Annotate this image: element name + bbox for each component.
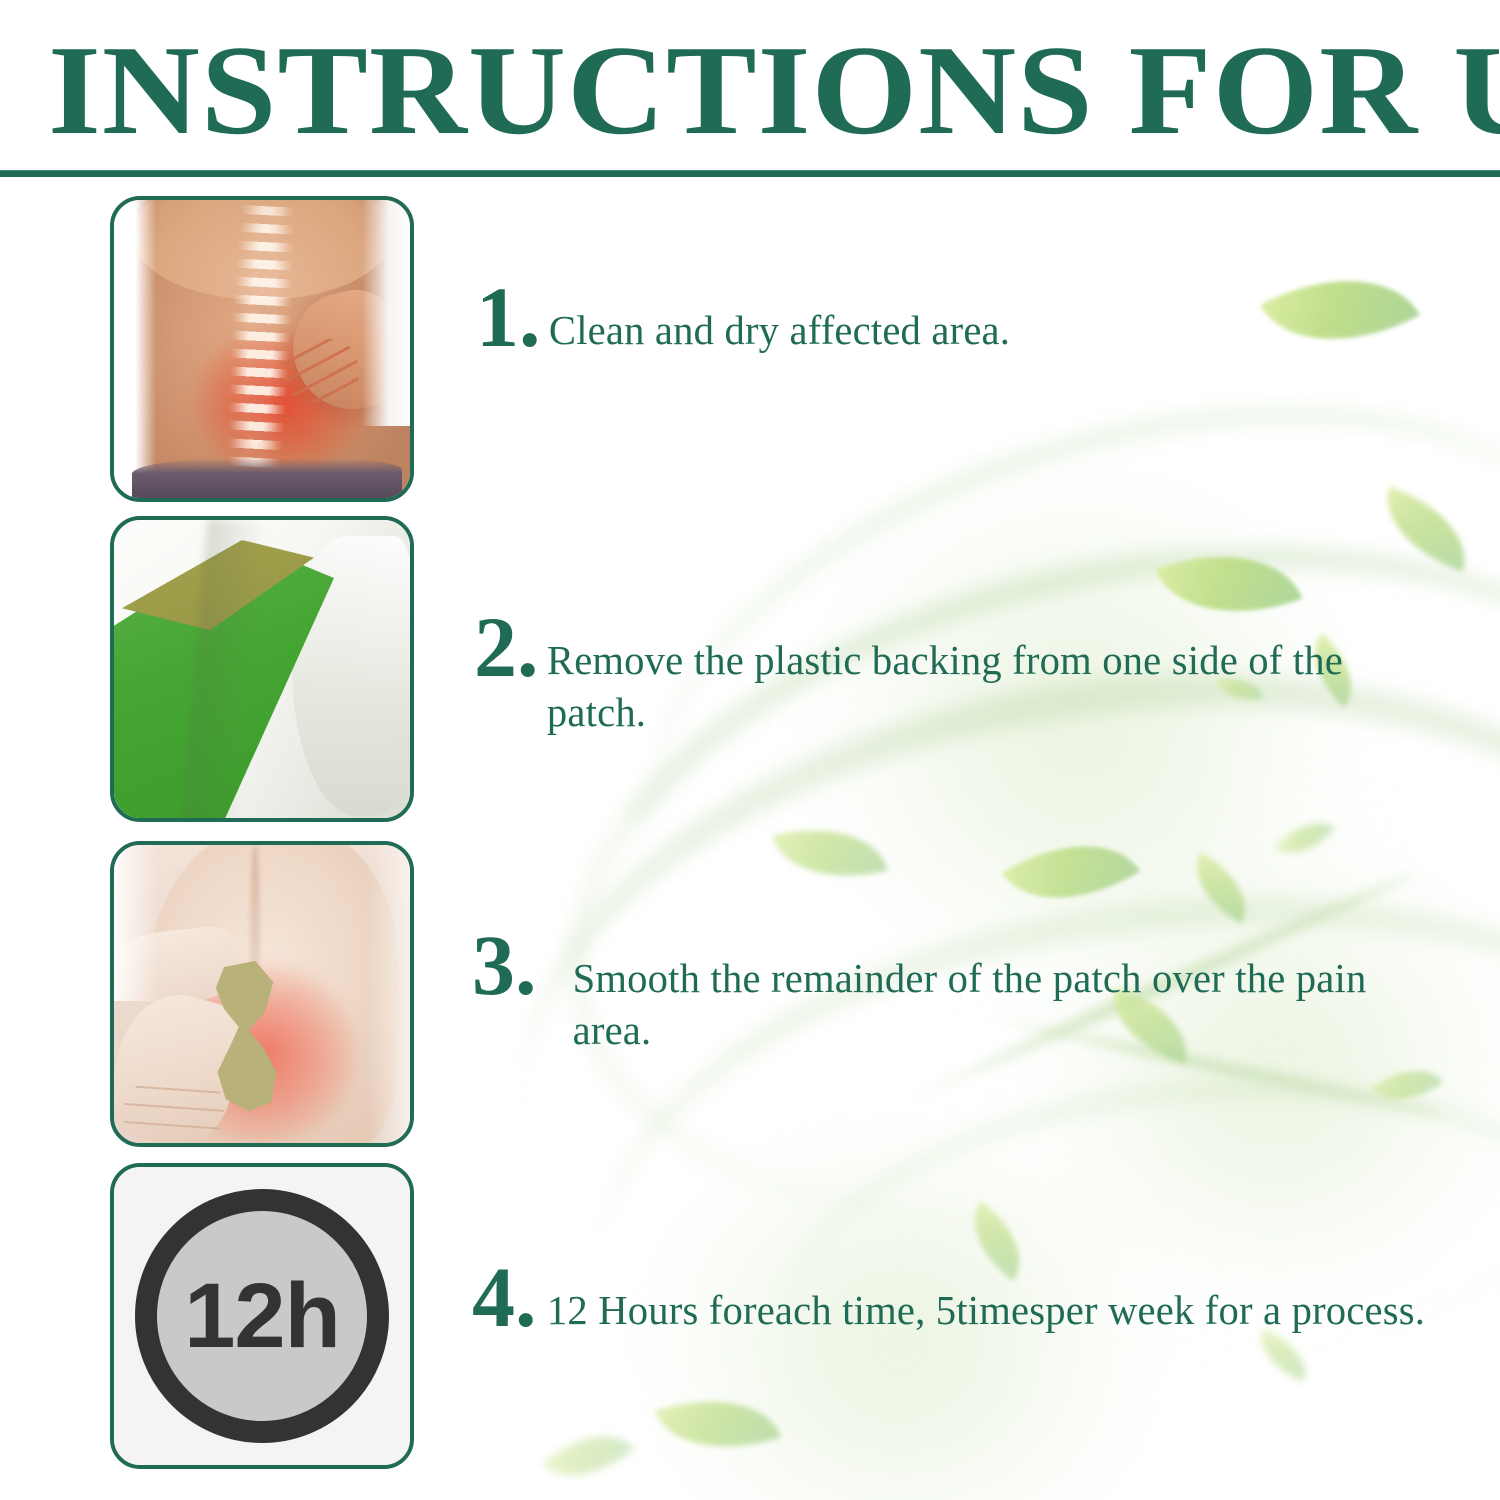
patch-peeling-backing-photo	[114, 520, 410, 818]
background-swirl	[505, 449, 1500, 1317]
duration-label: 12h	[184, 1270, 340, 1362]
step-item-2: 2. Remove the plastic backing from one s…	[474, 612, 1434, 739]
instructions-for-use-infographic: INSTRUCTIONS FOR USE	[0, 0, 1500, 1500]
background-leaf	[1180, 852, 1262, 924]
background-leaf	[1371, 487, 1480, 572]
photo-white-edge	[368, 845, 410, 1143]
photo-white-edge	[114, 845, 158, 1001]
step-number-4: 4.	[472, 1262, 537, 1333]
background-leaf	[1260, 241, 1420, 379]
step-text-4: 12 Hours foreach time, 5timesper week fo…	[537, 1262, 1425, 1336]
photo-waistband	[132, 458, 402, 498]
step-text-1: Clean and dry affected area.	[541, 282, 1010, 356]
photo-white-edge	[114, 200, 156, 498]
clock-ring-icon: 12h	[135, 1189, 389, 1443]
step-text-2: Remove the plastic backing from one side…	[539, 612, 1426, 739]
background-haze	[640, 1180, 1160, 1500]
step-image-panel-3	[110, 841, 414, 1147]
duration-12h-icon: 12h	[114, 1167, 410, 1465]
step-number-3: 3.	[472, 930, 537, 1001]
background-leaf	[1275, 807, 1335, 869]
patch-applied-lower-back-photo	[114, 845, 410, 1143]
back-pain-spine-photo	[114, 200, 410, 498]
step-item-1: 1. Clean and dry affected area.	[476, 282, 1014, 356]
step-number-2: 2.	[474, 612, 539, 683]
step-item-3: 3. Smooth the remainder of the patch ove…	[472, 930, 1462, 1057]
photo-fingers	[124, 1081, 224, 1141]
step-image-panel-1	[110, 196, 414, 502]
step-image-panel-4: 12h	[110, 1163, 414, 1469]
title-divider-rule	[0, 170, 1500, 177]
step-image-panel-2	[110, 516, 414, 822]
photo-white-edge	[362, 200, 410, 426]
background-leaf	[655, 1376, 781, 1471]
page-title: INSTRUCTIONS FOR USE	[48, 26, 1500, 154]
step-number-1: 1.	[476, 282, 541, 353]
background-leaf	[542, 1412, 634, 1500]
step-item-4: 4. 12 Hours foreach time, 5timesper week…	[472, 1262, 1462, 1336]
step-text-3: Smooth the remainder of the patch over t…	[537, 930, 1453, 1057]
background-leaf	[772, 810, 888, 895]
background-leaf	[1002, 810, 1140, 934]
background-leaf	[1371, 1051, 1443, 1118]
